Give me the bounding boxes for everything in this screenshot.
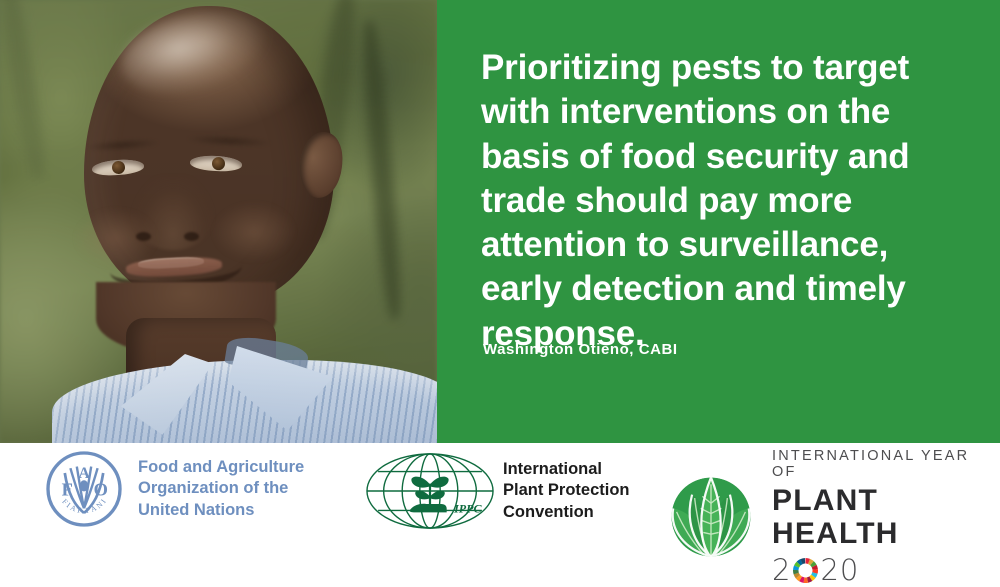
portrait-nostril: [136, 232, 151, 241]
logo-bar: F A O FIAT PANIS Food and Agriculture Or…: [0, 443, 1000, 562]
ippc-line-1: International: [503, 459, 630, 480]
svg-text:F: F: [62, 479, 73, 499]
quote-text: Prioritizing pests to target with interv…: [481, 46, 959, 356]
top-band: Prioritizing pests to target with interv…: [0, 0, 1000, 443]
fao-logo: F A O FIAT PANIS Food and Agriculture Or…: [44, 449, 304, 529]
ippc-wordmark: International Plant Protection Conventio…: [503, 459, 630, 523]
iyph-line-1: INTERNATIONAL YEAR OF: [772, 449, 1000, 481]
portrait-iris: [212, 157, 226, 171]
year-digit-3: 2: [820, 556, 839, 585]
fao-emblem-icon: F A O FIAT PANIS: [44, 449, 124, 529]
iyph-year: 2: [772, 556, 1000, 585]
plant-health-leaves-icon: [668, 474, 754, 560]
svg-text:IPPC: IPPC: [453, 501, 482, 515]
ippc-globe-icon: IPPC: [365, 453, 495, 529]
portrait-photo: [0, 0, 437, 443]
year-digit-4: 0: [840, 556, 859, 585]
svg-text:O: O: [94, 479, 108, 499]
portrait-iris: [112, 161, 126, 175]
quote-panel: Prioritizing pests to target with interv…: [437, 0, 1000, 443]
iyph-line-2: PLANT HEALTH: [772, 484, 1000, 551]
fao-wordmark: Food and Agriculture Organization of the…: [138, 457, 304, 520]
fao-line-2: Organization of the: [138, 478, 304, 499]
svg-text:A: A: [78, 465, 90, 482]
ippc-line-2: Plant Protection: [503, 480, 630, 501]
portrait-nostril: [184, 232, 199, 241]
year-digit-1: 2: [772, 556, 791, 585]
iyph-wordmark: INTERNATIONAL YEAR OF PLANT HEALTH 2: [772, 449, 1000, 585]
fao-line-3: United Nations: [138, 500, 304, 521]
fao-line-1: Food and Agriculture: [138, 457, 304, 478]
ippc-line-3: Convention: [503, 502, 630, 523]
quote-attribution: Washington Otieno, CABI: [483, 341, 678, 358]
plant-health-quote-card: Prioritizing pests to target with interv…: [0, 0, 1000, 562]
iyph-logo: INTERNATIONAL YEAR OF PLANT HEALTH 2: [668, 449, 1000, 585]
ippc-logo: IPPC International Plant Protection Conv…: [365, 453, 630, 529]
